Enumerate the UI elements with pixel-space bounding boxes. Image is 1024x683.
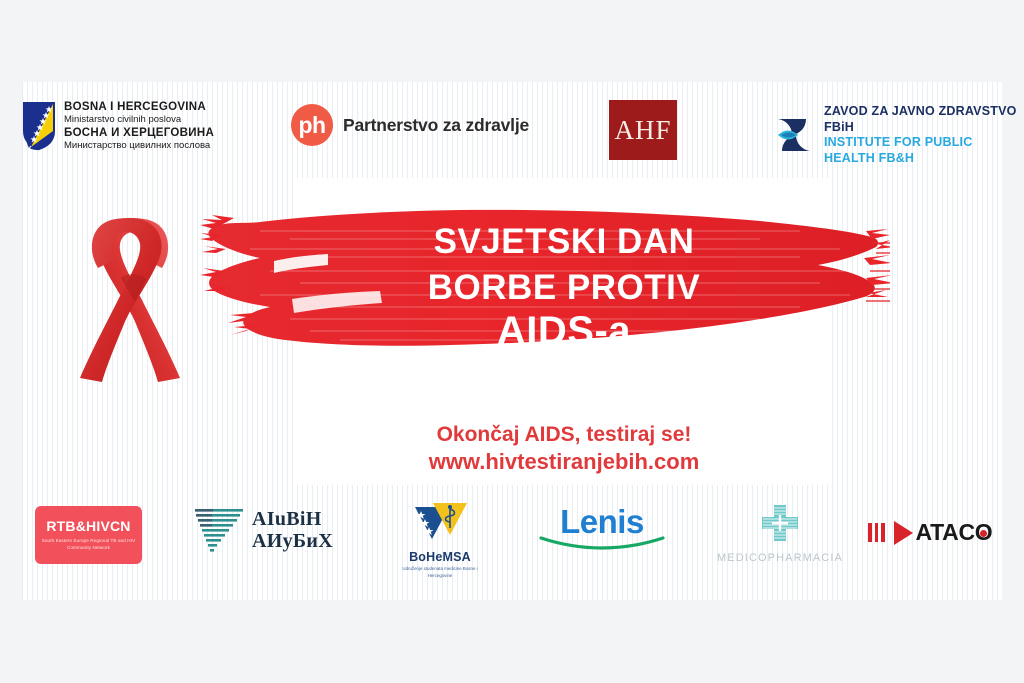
aiubih-stripes-icon xyxy=(193,505,245,555)
aids-ribbon-icon xyxy=(62,212,198,388)
headline-date-block: 1. DECEMBAR / PROSINAC xyxy=(296,360,832,408)
bih-line4: Министарство цивилних послова xyxy=(64,140,214,152)
bohemsa-name: BoHeMSA xyxy=(392,550,488,564)
headline-line-2: BORBE PROTIV xyxy=(296,270,832,306)
zzjz-line1: ZAVOD ZA JAVNO ZDRAVSTVO FBiH xyxy=(824,104,1024,135)
pharmacy-cross-icon xyxy=(760,503,800,543)
tagline-website[interactable]: www.hivtestiranjebih.com xyxy=(296,448,832,476)
margin-band-left xyxy=(0,82,22,600)
logo-ahf: AHF xyxy=(609,100,677,160)
ph-label: Partnerstvo za zdravlje xyxy=(343,115,529,136)
lenis-name: Lenis xyxy=(537,505,667,538)
ph-mark-text: ph xyxy=(298,112,325,139)
tagline-block: Okončaj AIDS, testiraj se! www.hivtestir… xyxy=(296,422,832,476)
rtb-subtitle: South Eastern Europe Regional TB and HIV… xyxy=(35,538,142,552)
bih-line1: BOSNA I HERCEGOVINA xyxy=(64,100,214,114)
headline-line-1: SVJETSKI DAN xyxy=(296,224,832,260)
margin-band-bottom xyxy=(0,600,1024,683)
logo-bosna-i-hercegovina: BOSNA I HERCEGOVINA Ministarstvo civilni… xyxy=(22,100,214,152)
logo-partnerstvo-za-zdravlje: ph Partnerstvo za zdravlje xyxy=(291,104,529,146)
zzjz-swirl-icon xyxy=(772,113,816,157)
logo-ataco: ATACO xyxy=(868,519,992,546)
zzjz-line2: INSTITUTE FOR PUBLIC HEALTH FB&H xyxy=(824,135,1024,166)
headline-line-3: AIDS-a xyxy=(296,311,832,352)
ataco-name-wrap: ATACO xyxy=(916,519,993,546)
ataco-dot-icon xyxy=(980,530,987,537)
logo-rtb-hivcn: RTB&HIVCN South Eastern Europe Regional … xyxy=(35,506,142,564)
ph-circle-icon: ph xyxy=(291,104,333,146)
aiubih-line2: АИуБиХ xyxy=(252,530,333,552)
aiubih-line1: AIuBiH xyxy=(252,508,333,530)
ahf-label: AHF xyxy=(614,115,671,146)
bih-coat-of-arms-icon xyxy=(22,101,56,151)
logo-zavod-za-javno-zdravstvo: ZAVOD ZA JAVNO ZDRAVSTVO FBiH INSTITUTE … xyxy=(772,104,1024,167)
logo-medicopharmacia: MEDICOPHARMACIA xyxy=(714,503,846,564)
headline-date-line-1: 1. DECEMBAR / xyxy=(296,360,832,384)
ataco-bars-icon xyxy=(868,523,885,542)
ataco-triangle-icon xyxy=(894,521,913,545)
logo-lenis: Lenis xyxy=(537,505,667,554)
margin-band-top xyxy=(0,0,1024,82)
rtb-name: RTB&HIVCN xyxy=(46,518,130,534)
bohemsa-triangle-icon xyxy=(409,499,471,543)
headline-block: SVJETSKI DAN BORBE PROTIV AIDS-a 1. DECE… xyxy=(296,224,832,408)
bih-line3: БОСНА И ХЕРЦЕГОВИНА xyxy=(64,126,214,140)
bohemsa-subtitle: Udruženje studenata medicine Bosne i Her… xyxy=(392,565,488,579)
logo-bohemsa: BoHeMSA Udruženje studenata medicine Bos… xyxy=(392,499,488,579)
poster-canvas: BOSNA I HERCEGOVINA Ministarstvo civilni… xyxy=(0,0,1024,683)
logo-aiubih: AIuBiH АИуБиХ xyxy=(193,505,333,555)
bih-line2: Ministarstvo civilnih poslova xyxy=(64,114,214,126)
medicopharmacia-name: MEDICOPHARMACIA xyxy=(714,552,846,564)
headline-date-line-2: PROSINAC xyxy=(296,384,832,408)
tagline-slogan: Okončaj AIDS, testiraj se! xyxy=(296,422,832,448)
